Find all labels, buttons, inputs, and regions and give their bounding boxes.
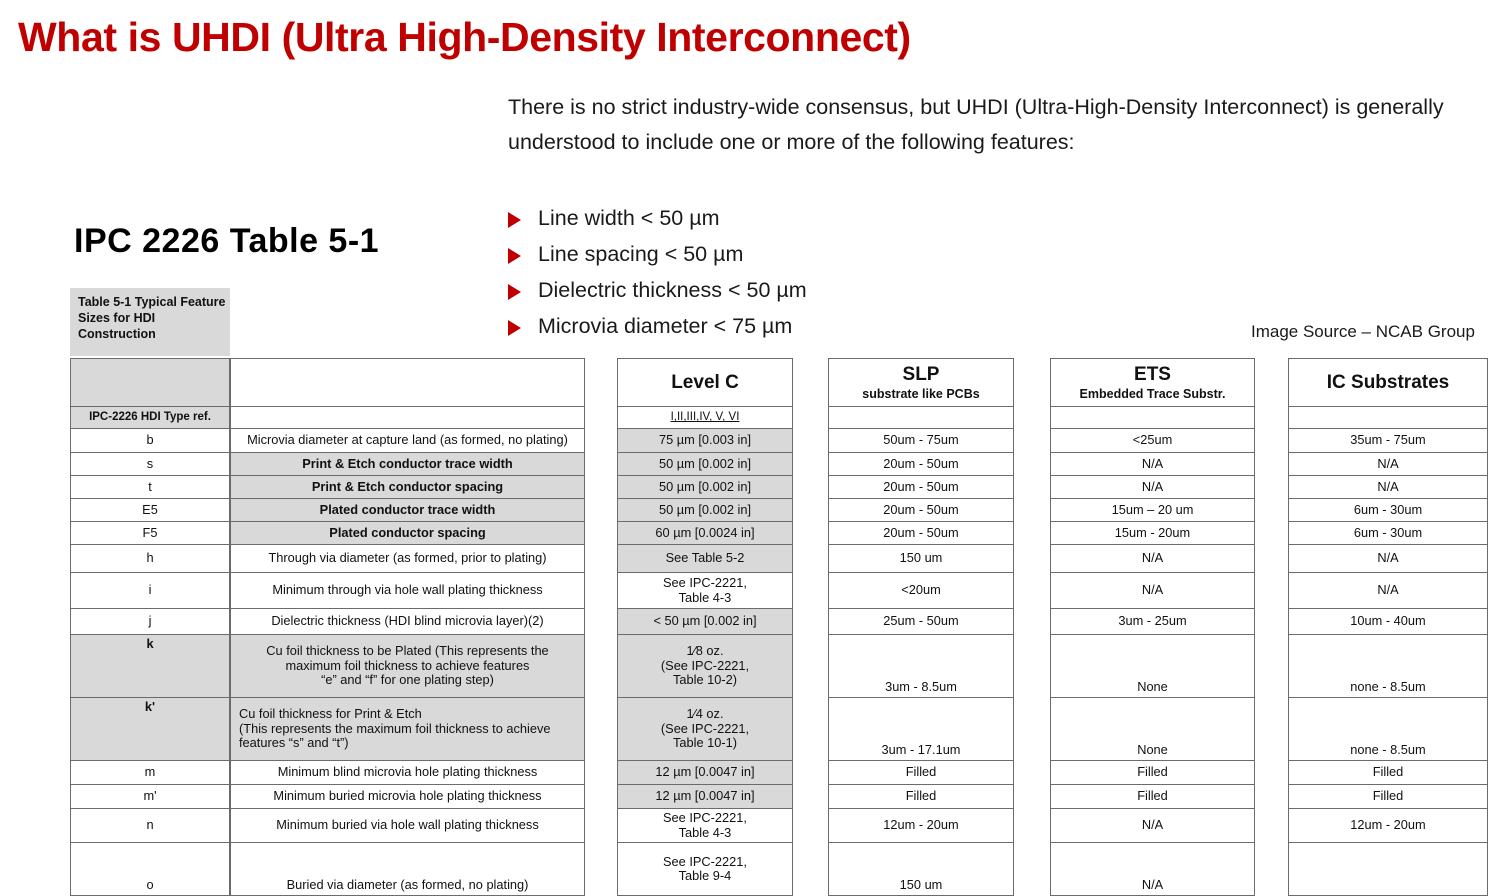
table-cell-ic-m': Filled xyxy=(1289,785,1487,809)
table-cell-ets-m: Filled xyxy=(1051,761,1254,785)
table-cell-levelc-o: See IPC-2221, Table 9-4 xyxy=(618,843,792,895)
table-cell-desc-t: Print & Etch conductor spacing xyxy=(231,476,584,499)
table-cell-desc-b: Microvia diameter at capture land (as fo… xyxy=(231,429,584,453)
table-cell-levelc-b: 75 µm [0.003 in] xyxy=(618,429,792,453)
table-cell-ref-o: o xyxy=(71,843,229,895)
table-cell-slp-F5: 20um - 50um xyxy=(829,522,1013,545)
table-column-ref: IPC-2226 HDI Type ref.bstE5F5hijkk'mm'no xyxy=(70,358,230,896)
table-cell-ets-h: N/A xyxy=(1051,545,1254,573)
table-cell-levelc-t: 50 µm [0.002 in] xyxy=(618,476,792,499)
table-column-level-c: Level CI,II,III,IV, V, VI75 µm [0.003 in… xyxy=(617,358,793,896)
table-column-ic-substrates: IC Substrates35um - 75umN/AN/A6um - 30um… xyxy=(1288,358,1488,896)
table-type-ref-cell-ic xyxy=(1289,407,1487,429)
table-type-ref-cell-desc xyxy=(231,407,584,429)
table-cell-levelc-k': 1⁄4 oz. (See IPC-2221, Table 10-1) xyxy=(618,698,792,761)
table-header-title: Level C xyxy=(671,372,739,394)
table-cell-levelc-h: See Table 5-2 xyxy=(618,545,792,573)
table-header-ets: ETSEmbedded Trace Substr. xyxy=(1051,359,1254,407)
table-header-slp: SLPsubstrate like PCBs xyxy=(829,359,1013,407)
table-header-title: ETS xyxy=(1134,364,1171,386)
table-cell-ic-k: none - 8.5um xyxy=(1289,635,1487,698)
table-cell-ic-E5: 6um - 30um xyxy=(1289,499,1487,522)
table-cell-slp-m': Filled xyxy=(829,785,1013,809)
table-cell-ic-m: Filled xyxy=(1289,761,1487,785)
table-type-ref-cell-ets xyxy=(1051,407,1254,429)
table-cell-ets-s: N/A xyxy=(1051,453,1254,476)
table-cell-slp-b: 50um - 75um xyxy=(829,429,1013,453)
table-cell-ref-t: t xyxy=(71,476,229,499)
ipc-2226-table-5-1: IPC-2226 HDI Type ref.bstE5F5hijkk'mm'no… xyxy=(0,0,1494,866)
table-cell-slp-E5: 20um - 50um xyxy=(829,499,1013,522)
table-cell-ref-h: h xyxy=(71,545,229,573)
table-cell-ets-o: N/A xyxy=(1051,843,1254,895)
table-cell-ref-m': m' xyxy=(71,785,229,809)
table-cell-desc-F5: Plated conductor spacing xyxy=(231,522,584,545)
table-cell-ref-s: s xyxy=(71,453,229,476)
table-cell-desc-j: Dielectric thickness (HDI blind microvia… xyxy=(231,609,584,635)
table-cell-ets-b: <25um xyxy=(1051,429,1254,453)
table-cell-ic-t: N/A xyxy=(1289,476,1487,499)
table-header-ref xyxy=(71,359,229,407)
table-cell-ref-i: i xyxy=(71,573,229,609)
table-cell-desc-E5: Plated conductor trace width xyxy=(231,499,584,522)
table-cell-slp-s: 20um - 50um xyxy=(829,453,1013,476)
table-cell-desc-i: Minimum through via hole wall plating th… xyxy=(231,573,584,609)
table-type-ref-cell-levelc: I,II,III,IV, V, VI xyxy=(618,407,792,429)
table-column-description: Microvia diameter at capture land (as fo… xyxy=(230,358,585,896)
table-cell-slp-i: <20um xyxy=(829,573,1013,609)
table-cell-levelc-i: See IPC-2221, Table 4-3 xyxy=(618,573,792,609)
table-cell-levelc-m: 12 µm [0.0047 in] xyxy=(618,761,792,785)
table-cell-levelc-m': 12 µm [0.0047 in] xyxy=(618,785,792,809)
table-cell-ic-n: 12um - 20um xyxy=(1289,809,1487,843)
table-cell-desc-k': Cu foil thickness for Print & Etch (This… xyxy=(231,698,584,761)
table-cell-ets-j: 3um - 25um xyxy=(1051,609,1254,635)
table-cell-ref-k': k' xyxy=(71,698,229,761)
table-cell-slp-j: 25um - 50um xyxy=(829,609,1013,635)
table-cell-ic-b: 35um - 75um xyxy=(1289,429,1487,453)
table-cell-slp-k': 3um - 17.1um xyxy=(829,698,1013,761)
table-cell-levelc-n: See IPC-2221, Table 4-3 xyxy=(618,809,792,843)
table-cell-slp-n: 12um - 20um xyxy=(829,809,1013,843)
table-cell-levelc-j: < 50 µm [0.002 in] xyxy=(618,609,792,635)
table-cell-ic-i: N/A xyxy=(1289,573,1487,609)
table-cell-ref-F5: F5 xyxy=(71,522,229,545)
table-cell-ets-E5: 15um – 20 um xyxy=(1051,499,1254,522)
table-cell-ets-t: N/A xyxy=(1051,476,1254,499)
table-cell-ref-E5: E5 xyxy=(71,499,229,522)
table-cell-ref-k: k xyxy=(71,635,229,698)
table-cell-levelc-E5: 50 µm [0.002 in] xyxy=(618,499,792,522)
table-cell-desc-s: Print & Etch conductor trace width xyxy=(231,453,584,476)
table-cell-ic-F5: 6um - 30um xyxy=(1289,522,1487,545)
table-cell-ets-k': None xyxy=(1051,698,1254,761)
table-type-ref-cell-ref: IPC-2226 HDI Type ref. xyxy=(71,407,229,429)
table-cell-desc-h: Through via diameter (as formed, prior t… xyxy=(231,545,584,573)
table-cell-ic-k': none - 8.5um xyxy=(1289,698,1487,761)
table-cell-desc-m: Minimum blind microvia hole plating thic… xyxy=(231,761,584,785)
table-cell-ets-k: None xyxy=(1051,635,1254,698)
table-cell-ets-F5: 15um - 20um xyxy=(1051,522,1254,545)
table-header-ic: IC Substrates xyxy=(1289,359,1487,407)
table-header-levelc: Level C xyxy=(618,359,792,407)
table-header-subtitle: Embedded Trace Substr. xyxy=(1080,386,1226,402)
table-header-subtitle: substrate like PCBs xyxy=(862,386,979,402)
table-column-slp: SLPsubstrate like PCBs50um - 75um20um - … xyxy=(828,358,1014,896)
table-cell-ref-m: m xyxy=(71,761,229,785)
table-cell-ic-s: N/A xyxy=(1289,453,1487,476)
table-header-title: IC Substrates xyxy=(1327,372,1449,394)
table-cell-ref-b: b xyxy=(71,429,229,453)
table-cell-ic-j: 10um - 40um xyxy=(1289,609,1487,635)
table-cell-ref-j: j xyxy=(71,609,229,635)
table-cell-slp-o: 150 um xyxy=(829,843,1013,895)
table-cell-slp-h: 150 um xyxy=(829,545,1013,573)
table-cell-ic-o xyxy=(1289,843,1487,895)
table-cell-desc-n: Minimum buried via hole wall plating thi… xyxy=(231,809,584,843)
table-cell-ref-n: n xyxy=(71,809,229,843)
table-cell-levelc-s: 50 µm [0.002 in] xyxy=(618,453,792,476)
table-cell-levelc-k: 1⁄8 oz. (See IPC-2221, Table 10-2) xyxy=(618,635,792,698)
table-cell-levelc-F5: 60 µm [0.0024 in] xyxy=(618,522,792,545)
table-cell-ic-h: N/A xyxy=(1289,545,1487,573)
table-cell-desc-o: Buried via diameter (as formed, no plati… xyxy=(231,843,584,895)
table-cell-desc-k: Cu foil thickness to be Plated (This rep… xyxy=(231,635,584,698)
table-type-ref-cell-slp xyxy=(829,407,1013,429)
table-cell-slp-t: 20um - 50um xyxy=(829,476,1013,499)
table-cell-slp-m: Filled xyxy=(829,761,1013,785)
table-cell-slp-k: 3um - 8.5um xyxy=(829,635,1013,698)
table-cell-ets-m': Filled xyxy=(1051,785,1254,809)
table-column-ets: ETSEmbedded Trace Substr.<25umN/AN/A15um… xyxy=(1050,358,1255,896)
table-cell-ets-n: N/A xyxy=(1051,809,1254,843)
table-header-title: SLP xyxy=(903,364,940,386)
table-header-desc xyxy=(231,359,584,407)
table-cell-ets-i: N/A xyxy=(1051,573,1254,609)
table-cell-desc-m': Minimum buried microvia hole plating thi… xyxy=(231,785,584,809)
